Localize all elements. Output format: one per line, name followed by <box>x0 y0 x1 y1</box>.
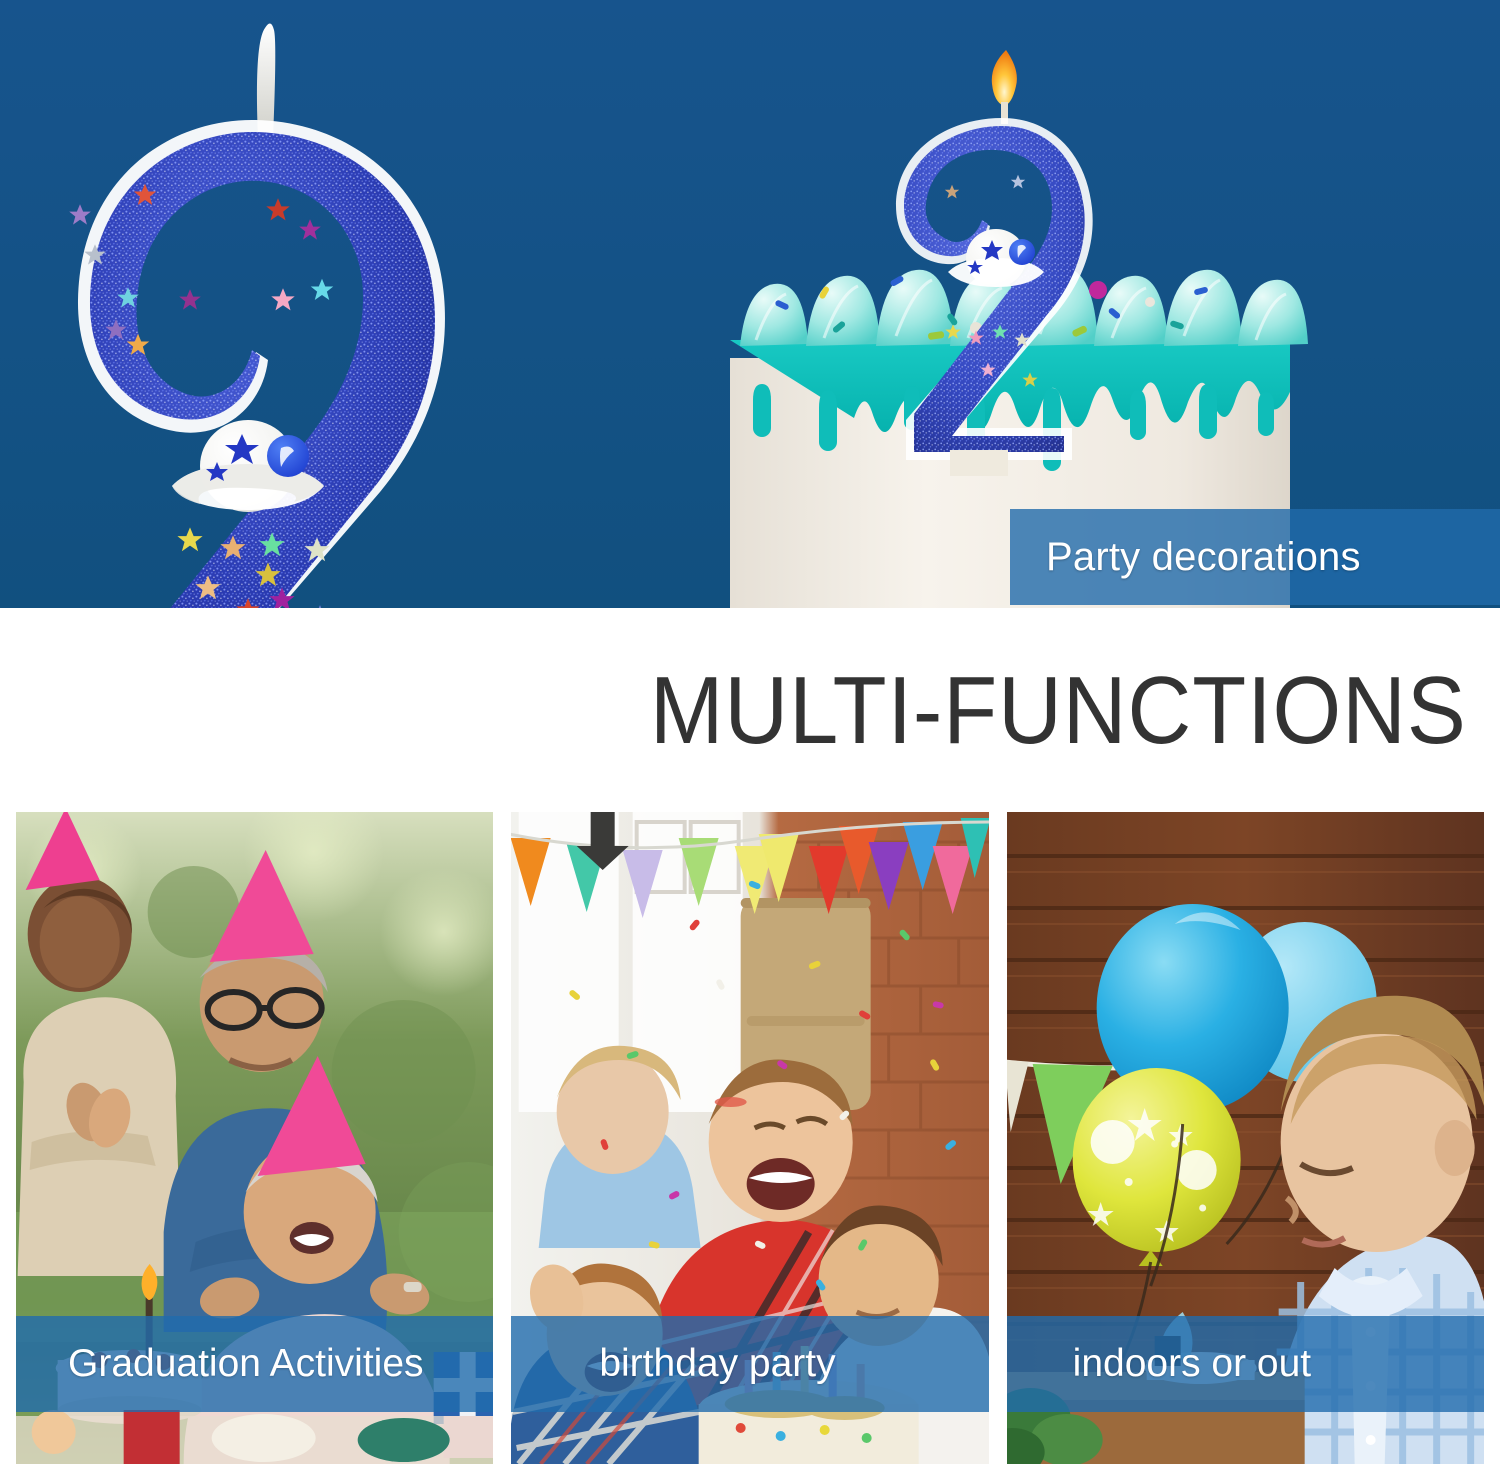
candle-flame <box>992 50 1017 106</box>
gallery-item-graduation[interactable]: Graduation Activities <box>16 812 493 1464</box>
caption-indoors-outdoors: indoors or out <box>1007 1316 1484 1412</box>
caption-graduation: Graduation Activities <box>16 1316 493 1412</box>
use-case-gallery: Graduation Activities <box>0 812 1500 1478</box>
caption-indoors-outdoors-label: indoors or out <box>1007 1342 1311 1386</box>
party-decorations-label: Party decorations <box>1010 535 1361 580</box>
page-title: MULTI-FUNCTIONS <box>650 663 1500 759</box>
planet-saturn-charm <box>172 420 324 512</box>
caption-birthday-label: birthday party <box>511 1342 835 1386</box>
headline-section: MULTI-FUNCTIONS <box>0 608 1500 813</box>
caption-birthday: birthday party <box>511 1316 988 1412</box>
gallery-item-indoors-outdoors[interactable]: indoors or out <box>1007 812 1484 1464</box>
party-decorations-badge: Party decorations <box>1010 509 1500 605</box>
caption-graduation-label: Graduation Activities <box>16 1342 424 1386</box>
gallery-item-birthday[interactable]: birthday party <box>511 812 988 1464</box>
